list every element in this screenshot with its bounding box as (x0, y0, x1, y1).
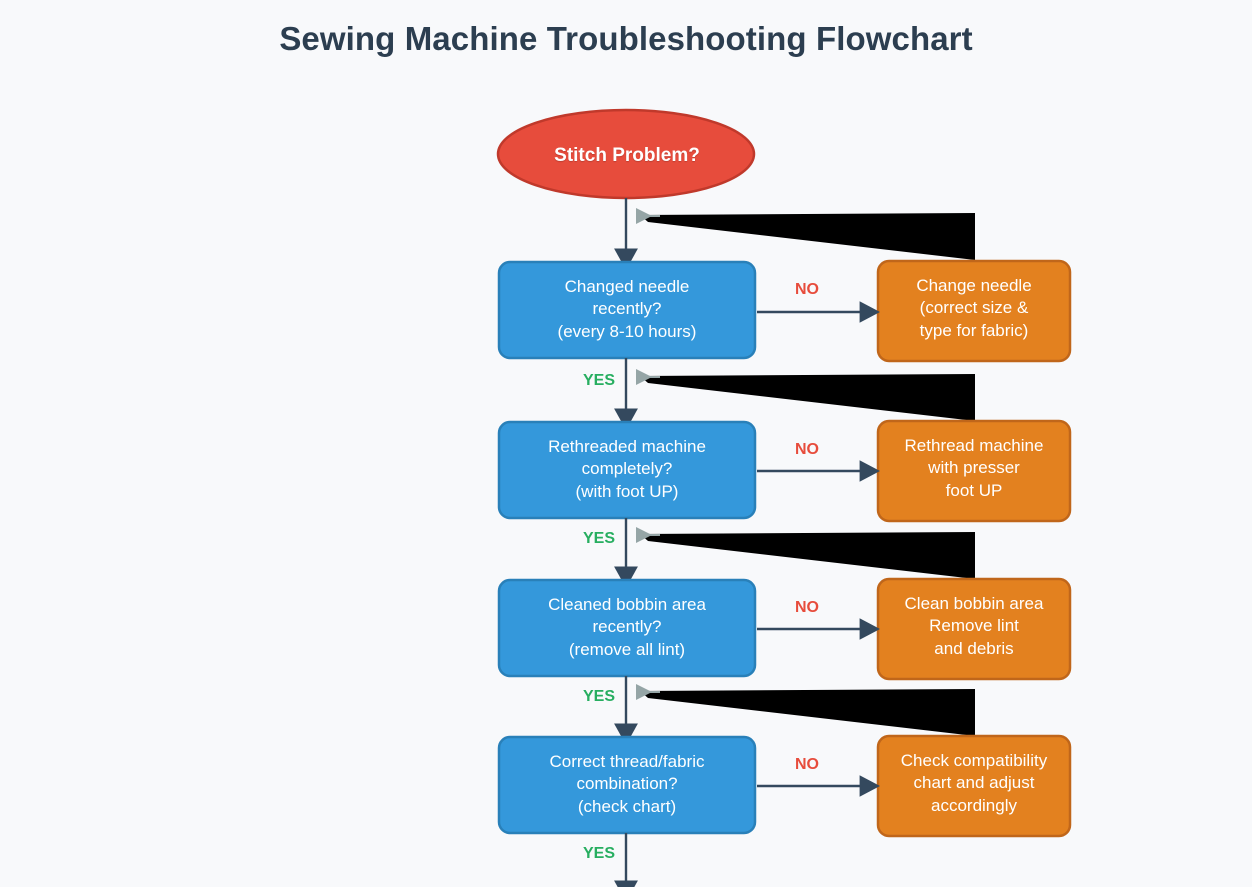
node-action-check-compatibility[interactable] (878, 736, 1070, 836)
connector-wedge-2 (640, 374, 975, 421)
connector-wedge-1 (640, 213, 975, 260)
flowchart-svg (0, 0, 1252, 887)
node-decision-changed-needle[interactable] (499, 262, 755, 358)
node-decision-rethreaded-machine[interactable] (499, 422, 755, 518)
connector-wedge-4 (640, 689, 975, 736)
flowchart-canvas: Sewing Machine Troubleshooting Flowchart (0, 0, 1252, 887)
node-decision-thread-fabric-combo[interactable] (499, 737, 755, 833)
node-action-clean-bobbin[interactable] (878, 579, 1070, 679)
connector-wedge-3 (640, 532, 975, 579)
node-action-change-needle[interactable] (878, 261, 1070, 361)
node-decision-cleaned-bobbin[interactable] (499, 580, 755, 676)
node-action-rethread-machine[interactable] (878, 421, 1070, 521)
node-start-stitch-problem[interactable] (498, 110, 754, 198)
